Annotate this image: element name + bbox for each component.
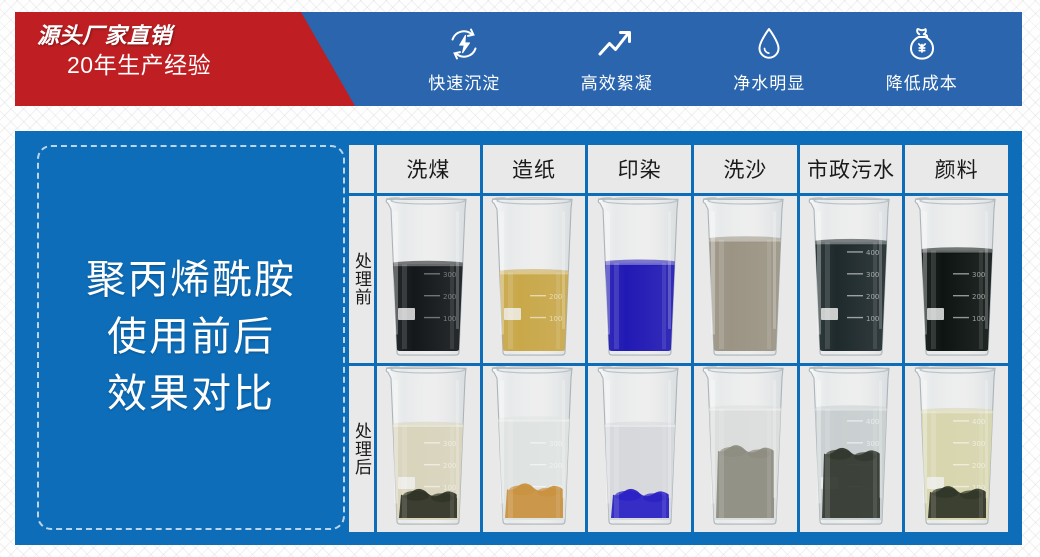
product-title-line-3: 效果对比	[107, 366, 275, 423]
product-title-card: 聚丙烯酰胺使用前后效果对比	[37, 145, 345, 530]
fast-settling-icon	[447, 24, 481, 64]
svg-text:100: 100	[443, 314, 456, 322]
feature-label: 高效絮凝	[581, 69, 653, 94]
promo-page-root: 源头厂家直销 20年生产经验 快速沉淀 高效絮凝 净水明显 降低成本 聚丙烯酰胺…	[0, 0, 1040, 557]
table-corner-cell	[349, 145, 374, 193]
feature-1: 快速沉淀	[399, 24, 529, 94]
comparison-panel: 聚丙烯酰胺使用前后效果对比 洗煤造纸印染洗沙市政污水颜料处理前	[15, 131, 1022, 545]
column-header-2: 造纸	[483, 145, 586, 193]
beaker-municipal-sewage-after: 100200300400	[803, 366, 899, 527]
feature-4: 降低成本	[857, 24, 987, 94]
svg-text:200: 200	[443, 292, 456, 300]
clear-water-droplet-icon	[756, 24, 782, 64]
beaker-sand-washing-before	[697, 196, 793, 357]
svg-text:200: 200	[866, 292, 879, 300]
feature-3: 净水明显	[704, 24, 834, 94]
svg-text:300: 300	[972, 440, 985, 448]
efficient-flocculation-icon	[597, 24, 637, 64]
svg-text:200: 200	[549, 292, 562, 300]
table-cell-beaker-sand-washing-before	[694, 196, 797, 363]
svg-text:100: 100	[549, 314, 562, 322]
table-cell-beaker-papermaking-before: 100200	[483, 196, 586, 363]
svg-text:200: 200	[443, 462, 456, 470]
table-cell-beaker-pigment-after: 100200300400	[905, 366, 1008, 533]
svg-text:400: 400	[866, 418, 879, 426]
feature-list: 快速沉淀 高效絮凝 净水明显 降低成本	[370, 12, 1022, 106]
table-cell-beaker-coal-washing-before: 100200300	[377, 196, 480, 363]
table-cell-beaker-papermaking-after: 100200300	[483, 366, 586, 533]
svg-text:300: 300	[549, 440, 562, 448]
beaker-dyeing-after	[592, 366, 688, 527]
table-cell-beaker-sand-washing-after	[694, 366, 797, 533]
product-title-line-1: 聚丙烯酰胺	[86, 252, 296, 309]
table-cell-beaker-municipal-sewage-before: 100200300400	[800, 196, 903, 363]
brand-block: 源头厂家直销 20年生产经验	[37, 23, 337, 79]
row-header-1: 处理前	[349, 196, 374, 363]
table-cell-beaker-pigment-before: 100200300	[905, 196, 1008, 363]
svg-text:300: 300	[443, 440, 456, 448]
svg-text:100: 100	[443, 484, 456, 492]
beaker-dyeing-before	[592, 196, 688, 357]
feature-label: 快速沉淀	[428, 69, 500, 94]
brand-tagline-primary: 源头厂家直销	[37, 23, 337, 49]
feature-label: 降低成本	[886, 69, 958, 94]
svg-text:200: 200	[549, 462, 562, 470]
column-header-4: 洗沙	[694, 145, 797, 193]
feature-2: 高效絮凝	[552, 24, 682, 94]
beaker-municipal-sewage-before: 100200300400	[803, 196, 899, 357]
svg-text:400: 400	[972, 418, 985, 426]
beaker-pigment-after: 100200300400	[909, 366, 1005, 527]
column-header-1: 洗煤	[377, 145, 480, 193]
header-banner: 源头厂家直销 20年生产经验 快速沉淀 高效絮凝 净水明显 降低成本	[15, 12, 1022, 106]
product-title-line-2: 使用前后	[107, 309, 275, 366]
beaker-coal-washing-before: 100200300	[380, 196, 476, 357]
svg-text:300: 300	[866, 271, 879, 279]
beaker-papermaking-before: 100200	[486, 196, 582, 357]
cost-reduction-money-bag-icon	[907, 24, 937, 64]
comparison-table: 洗煤造纸印染洗沙市政污水颜料处理前 100200	[349, 145, 1008, 532]
beaker-papermaking-after: 100200300	[486, 366, 582, 527]
beaker-sand-washing-after	[697, 366, 793, 527]
column-header-6: 颜料	[905, 145, 1008, 193]
table-cell-beaker-dyeing-before	[588, 196, 691, 363]
svg-text:400: 400	[866, 249, 879, 257]
svg-text:200: 200	[972, 462, 985, 470]
brand-tagline-secondary: 20年生产经验	[37, 52, 337, 79]
beaker-coal-washing-after: 100200300	[380, 366, 476, 527]
svg-text:100: 100	[972, 314, 985, 322]
column-header-5: 市政污水	[800, 145, 903, 193]
svg-text:300: 300	[866, 440, 879, 448]
row-header-2: 处理后	[349, 366, 374, 533]
feature-label: 净水明显	[733, 69, 805, 94]
svg-text:200: 200	[972, 292, 985, 300]
table-cell-beaker-dyeing-after	[588, 366, 691, 533]
table-cell-beaker-coal-washing-after: 100200300	[377, 366, 480, 533]
svg-text:300: 300	[443, 271, 456, 279]
svg-text:300: 300	[972, 271, 985, 279]
svg-text:100: 100	[866, 314, 879, 322]
beaker-pigment-before: 100200300	[909, 196, 1005, 357]
column-header-3: 印染	[588, 145, 691, 193]
table-cell-beaker-municipal-sewage-after: 100200300400	[800, 366, 903, 533]
